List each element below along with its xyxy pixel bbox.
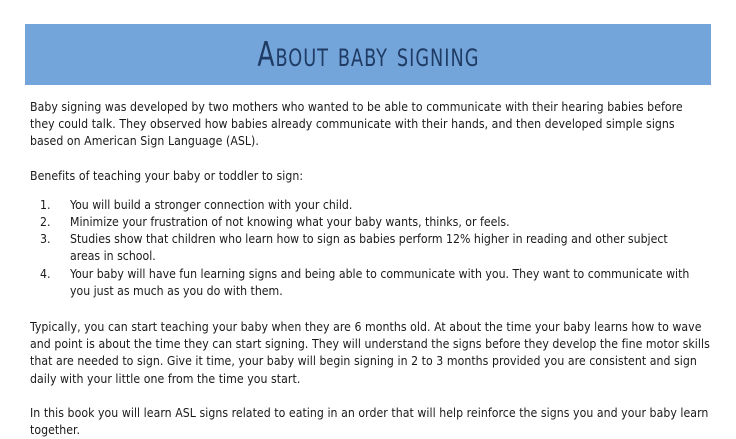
paragraph-spacer xyxy=(30,388,710,405)
document-body: Baby signing was developed by two mother… xyxy=(30,99,710,439)
timing-paragraph: Typically, you can start teaching your b… xyxy=(30,319,710,388)
list-item-text: Your baby will have fun learning signs a… xyxy=(70,266,710,300)
list-item: 1. You will build a stronger connection … xyxy=(30,197,710,214)
list-spacer xyxy=(30,185,710,197)
list-item-text: Studies show that children who learn how… xyxy=(70,231,710,265)
intro-paragraph: Baby signing was developed by two mother… xyxy=(30,99,710,151)
list-item: 2. Minimize your frustration of not know… xyxy=(30,214,710,231)
page-title-banner: About baby signing xyxy=(25,24,711,85)
page-title: About baby signing xyxy=(257,37,479,73)
list-item-text: Minimize your frustration of not knowing… xyxy=(70,214,710,231)
list-item: 3. Studies show that children who learn … xyxy=(30,231,710,265)
section-spacer xyxy=(30,300,710,319)
paragraph-spacer xyxy=(30,151,710,168)
closing-paragraph: In this book you will learn ASL signs re… xyxy=(30,405,710,439)
list-item-number: 3. xyxy=(30,231,70,248)
list-item-number: 4. xyxy=(30,266,70,283)
benefits-list: 1. You will build a stronger connection … xyxy=(30,197,710,300)
list-item-number: 1. xyxy=(30,197,70,214)
list-item: 4. Your baby will have fun learning sign… xyxy=(30,266,710,300)
document-page: About baby signing Baby signing was deve… xyxy=(0,0,736,414)
list-item-number: 2. xyxy=(30,214,70,231)
list-item-text: You will build a stronger connection wit… xyxy=(70,197,710,214)
benefits-heading: Benefits of teaching your baby or toddle… xyxy=(30,168,710,185)
